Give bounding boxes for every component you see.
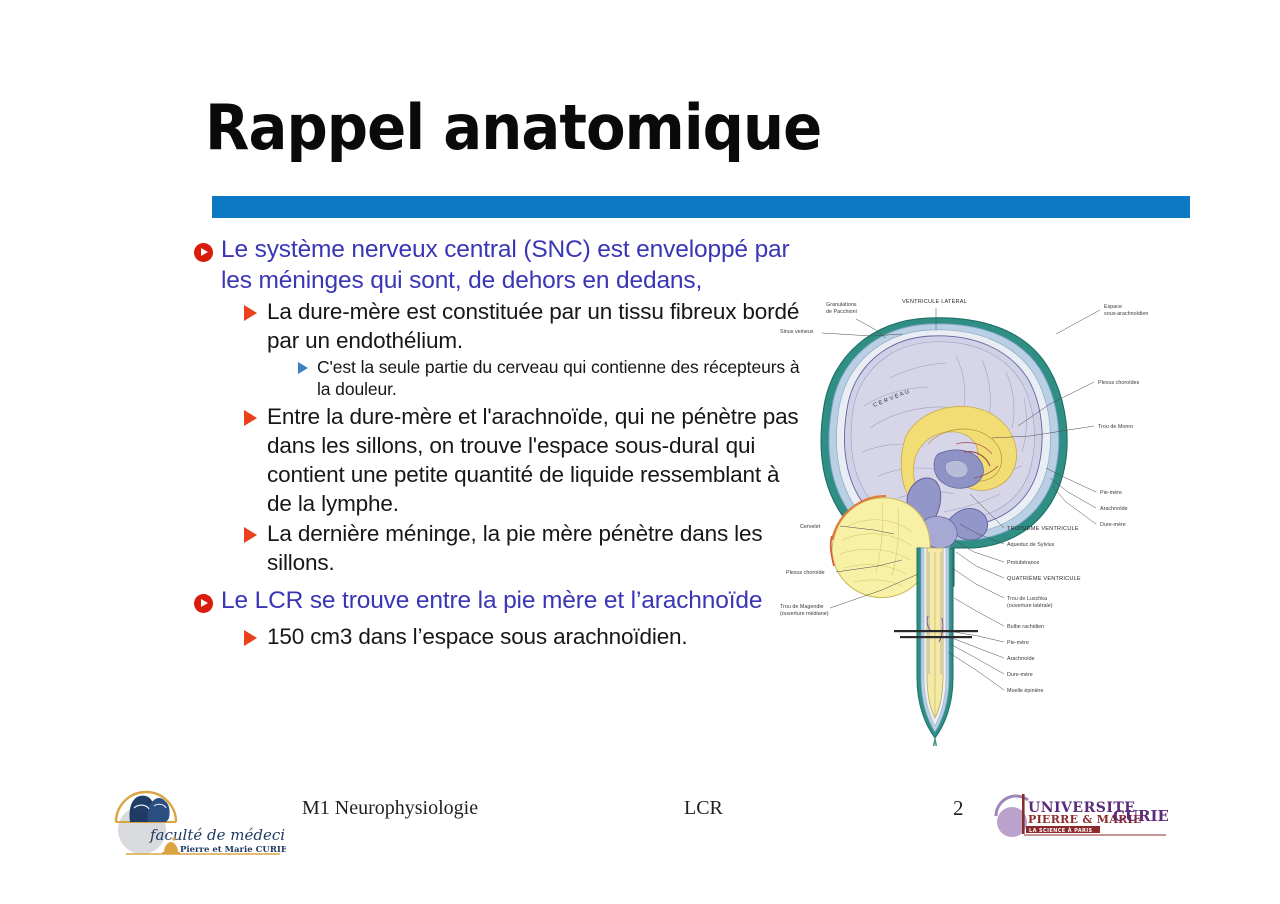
bullet-list: Le système nerveux central (SNC) est env… (185, 234, 805, 652)
figure-label-arachnoide-haut: Arachnoïde (1100, 506, 1128, 512)
figure-label-dure-mere-bas: Dure-mère (1007, 672, 1033, 678)
figure-label-trou-de-luschka: Trou de Luschka (1007, 596, 1047, 602)
bullet-level3: C'est la seule partie du cerveau qui con… (289, 356, 805, 400)
logo-left-line1: faculté de médecine (149, 826, 286, 844)
bullet-play-circle-icon (185, 234, 221, 262)
anatomy-figure: .lbl { font-family:"Liberation Sans", sa… (778, 286, 1198, 746)
bullet-level2: La dernière méninge, la pie mère pénètre… (233, 519, 805, 577)
figure-label-trou-de-monro: Trou de Monro (1098, 424, 1133, 430)
bullet-play-circle-icon (185, 585, 221, 613)
bullet-text: La dure-mère est constituée par un tissu… (267, 297, 805, 355)
bullet-triangle-red-icon (233, 622, 267, 646)
figure-label-espace-sous-arachnoidien-line2: sous-arachnoïdien (1104, 311, 1148, 317)
figure-label-quatrieme-ventricule: QUATRIÈME VENTRICULE (1007, 575, 1081, 582)
footer-topic: LCR (684, 797, 723, 820)
title-divider-bar (212, 196, 1190, 218)
figure-label-bulbe-rachidien: Bulbe rachidien (1007, 624, 1044, 630)
figure-label-dure-mere-haut: Dure-mère (1100, 522, 1126, 528)
figure-label-sinus-veineux: Sinus veineux (780, 329, 814, 335)
bullet-level1: Le LCR se trouve entre la pie mère et l’… (185, 585, 805, 616)
figure-label-granulations: Granulations (826, 302, 857, 308)
logo-right-tagline: LA SCIENCE À PARIS (1029, 827, 1093, 834)
bullet-text: Le LCR se trouve entre la pie mère et l’… (221, 585, 805, 616)
bullet-text: Le système nerveux central (SNC) est env… (221, 234, 805, 296)
figure-label-espace-sous-arachnoidien: Espace (1104, 304, 1122, 310)
bullet-text: La dernière méninge, la pie mère pénètre… (267, 519, 805, 577)
bullet-level2: La dure-mère est constituée par un tissu… (233, 297, 805, 355)
bullet-level1: Le système nerveux central (SNC) est env… (185, 234, 805, 296)
bullet-text: Entre la dure-mère et l'arachnoïde, qui … (267, 402, 805, 518)
bullet-text: C'est la seule partie du cerveau qui con… (317, 356, 805, 400)
logo-universite-pierre-et-marie-curie: UNIVERSITE PIERRE & MARIE CURIE LA SCIEN… (988, 786, 1168, 846)
figure-label-pie-mere-haut: Pie-mère (1100, 490, 1122, 496)
figure-label-protuberance: Protubérance (1007, 560, 1039, 566)
figure-label-plexus-choroides: Plexus choroïdes (1098, 380, 1140, 386)
figure-label-trou-de-magendie-line2: (ouverture médiane) (780, 611, 829, 617)
logo-right-line3: CURIE (1113, 807, 1168, 825)
figure-label-arachnoide-bas: Arachnoïde (1007, 656, 1035, 662)
bullet-triangle-red-icon (233, 297, 267, 321)
footer-page-number: 2 (953, 796, 964, 821)
bullet-level2: Entre la dure-mère et l'arachnoïde, qui … (233, 402, 805, 518)
figure-label-trou-de-magendie: Trou de Magendie (780, 604, 824, 610)
slide-canvas: Rappel anatomique Le système nerveux cen… (0, 0, 1280, 904)
figure-label-pie-mere-bas: Pie-mère (1007, 640, 1029, 646)
figure-label-troisieme-ventricule: TROISIÈME VENTRICULE (1007, 525, 1079, 532)
figure-label-moelle-epiniere: Moelle épinière (1007, 688, 1044, 694)
bullet-text: 150 cm3 dans l’espace sous arachnoïdien. (267, 622, 805, 651)
bullet-triangle-red-icon (233, 402, 267, 426)
page-title: Rappel anatomique (205, 97, 1116, 159)
figure-label-trou-de-luschka-line2: (ouverture latérale) (1007, 603, 1053, 609)
bullet-triangle-red-icon (233, 519, 267, 543)
bullet-triangle-blue-icon (289, 356, 317, 374)
bullet-level2: 150 cm3 dans l’espace sous arachnoïdien. (233, 622, 805, 651)
logo-faculte-de-medecine: faculté de médecine Pierre et Marie CURI… (108, 778, 286, 864)
figure-label-plexus-choroide: Plexus choroïde (786, 570, 825, 576)
figure-label-cervelet: Cervelet (800, 524, 821, 530)
figure-label-ventricule-lateral: VENTRICULE LATÉRAL (902, 298, 967, 305)
footer-course: M1 Neurophysiologie (302, 797, 478, 820)
figure-label-aqueduc-de-sylvius: Aqueduc de Sylvius (1007, 542, 1055, 548)
logo-left-line2: Pierre et Marie CURIE (180, 845, 286, 855)
figure-label-granulations-line2: de Pacchioni (826, 309, 857, 315)
